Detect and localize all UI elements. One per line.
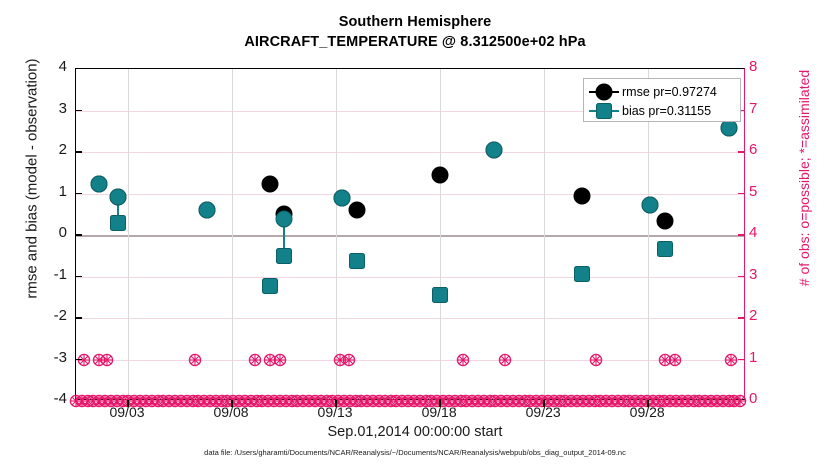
gridline-v-23 [544, 69, 545, 399]
chart-legend: rmse pr=0.97274 bias pr=0.31155 [583, 78, 741, 122]
rmse-point [261, 176, 278, 193]
bias-point [109, 188, 126, 205]
rmse-point [656, 213, 673, 230]
y-axis-right-label: # of obs: o=possible; *=assimilated [796, 0, 812, 378]
obs-marker-one [457, 353, 470, 366]
y-tickmark-left-2 [75, 151, 82, 153]
x-tickmark-3 [439, 400, 441, 407]
obs-marker-one [669, 353, 682, 366]
y-tick-right-2: 2 [749, 307, 783, 324]
gridline-h-0 [76, 235, 744, 237]
legend-label-rmse: rmse pr=0.97274 [622, 85, 717, 99]
y-tickmark-right-6 [738, 151, 745, 153]
y-tickmark-right-5 [738, 193, 745, 195]
rmse-point [432, 166, 449, 183]
bias-point [262, 278, 278, 294]
x-tickmark-4 [543, 400, 545, 407]
y-tickmark-left--1 [75, 276, 82, 278]
y-axis-left-label: rmse and bias (model - observation) [24, 0, 41, 379]
bias-point [432, 287, 448, 303]
title-line-2: AIRCRAFT_TEMPERATURE @ 8.312500e+02 hPa [0, 32, 830, 52]
gridline-h--1 [76, 277, 744, 278]
bias-point [276, 211, 293, 228]
x-tickmark-0 [127, 400, 129, 407]
gridline-v-13 [336, 69, 337, 399]
y-tick-right-1: 1 [749, 349, 783, 366]
y-tick-right-7: 7 [749, 100, 783, 117]
bias-point [657, 241, 673, 257]
title-line-1: Southern Hemisphere [0, 12, 830, 32]
y-tick-right-6: 6 [749, 141, 783, 158]
obs-marker-zero [734, 395, 747, 408]
obs-marker-one [498, 353, 511, 366]
obs-marker-one [188, 353, 201, 366]
legend-swatch-rmse [589, 84, 619, 100]
bias-point [349, 253, 365, 269]
data-file-footer: data file: /Users/gharamti/Documents/NCA… [0, 448, 830, 457]
obs-marker-one [590, 353, 603, 366]
gridline-v-18 [440, 69, 441, 399]
obs-marker-one [248, 353, 261, 366]
bias-point [334, 190, 351, 207]
rmse-point [573, 187, 590, 204]
gridline-v-3 [128, 69, 129, 399]
legend-label-bias: bias pr=0.31155 [622, 104, 711, 118]
obs-marker-one [342, 353, 355, 366]
y-tick-right-3: 3 [749, 266, 783, 283]
x-tickmark-2 [335, 400, 337, 407]
gridline-h--2 [76, 318, 744, 319]
circle-icon [596, 83, 613, 100]
chart-title: Southern Hemisphere AIRCRAFT_TEMPERATURE… [0, 12, 830, 52]
y-tickmark-left-3 [75, 110, 82, 112]
legend-swatch-bias [589, 103, 619, 119]
gridline-h--3 [76, 360, 744, 361]
bias-point [642, 196, 659, 213]
x-tickmark-1 [231, 400, 233, 407]
bias-point [110, 215, 126, 231]
bias-point [90, 176, 107, 193]
gridline-h-2 [76, 152, 744, 153]
chart-canvas: Southern Hemisphere AIRCRAFT_TEMPERATURE… [0, 0, 830, 470]
y-tick-right-8: 8 [749, 58, 783, 75]
obs-marker-one [273, 353, 286, 366]
bias-point [199, 202, 216, 219]
y-tick-right-5: 5 [749, 183, 783, 200]
x-axis-label: Sep.01,2014 00:00:00 start [0, 424, 830, 440]
y-tickmark-right-1 [738, 359, 745, 361]
legend-entry-rmse: rmse pr=0.97274 [589, 82, 735, 101]
square-icon [596, 103, 612, 119]
y-tickmark-left-0 [75, 234, 82, 236]
y-tick-right-4: 4 [749, 224, 783, 241]
bias-point [486, 141, 503, 158]
y-tickmark-right-3 [738, 276, 745, 278]
y-tickmark-right-4 [738, 234, 745, 236]
bias-point [276, 248, 292, 264]
y-tickmark-right-2 [738, 317, 745, 319]
x-tickmark-5 [647, 400, 649, 407]
gridline-h-1 [76, 194, 744, 195]
y-tickmark-left--2 [75, 317, 82, 319]
obs-marker-one [725, 353, 738, 366]
y-tickmark-left--3 [75, 359, 82, 361]
gridline-v-8 [232, 69, 233, 399]
obs-marker-one [101, 353, 114, 366]
y-tickmark-left-1 [75, 193, 82, 195]
bias-point [574, 266, 590, 282]
legend-entry-bias: bias pr=0.31155 [589, 101, 735, 120]
y-tick-left--4: -4 [33, 390, 67, 407]
rmse-point [348, 202, 365, 219]
y-tick-right-0: 0 [749, 390, 783, 407]
